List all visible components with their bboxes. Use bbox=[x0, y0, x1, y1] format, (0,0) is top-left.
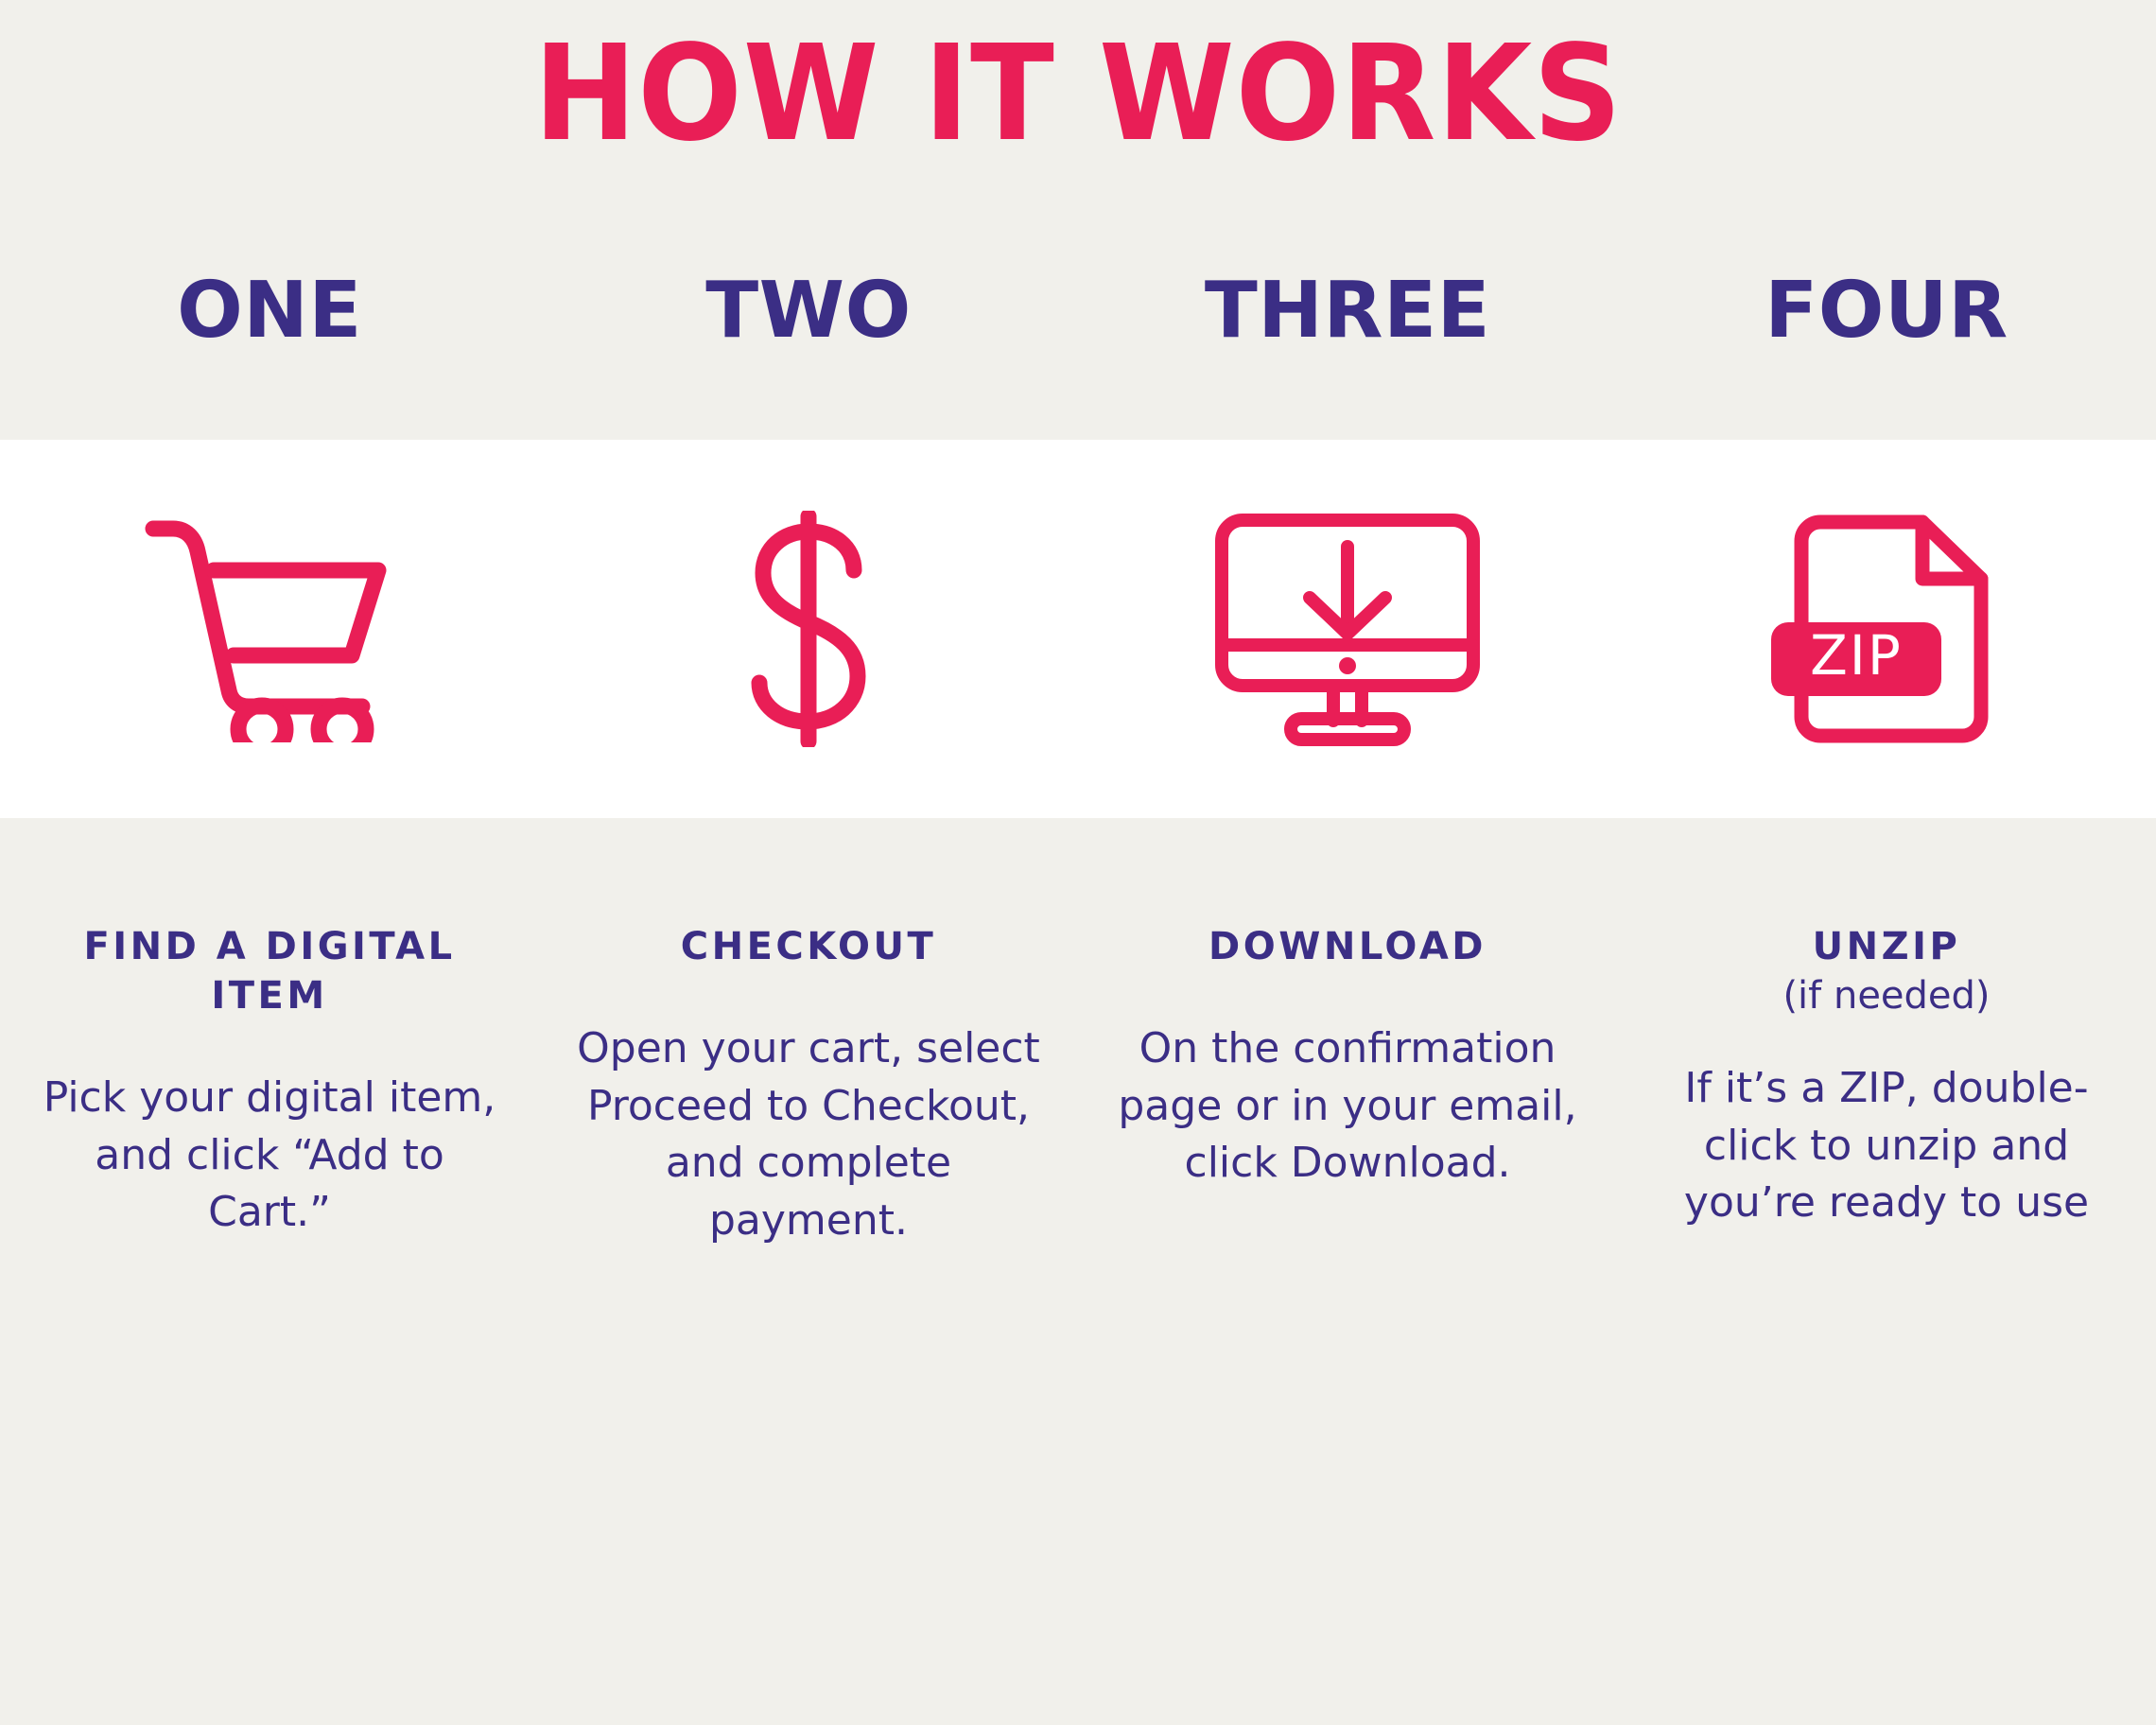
step-numbers-row: ONE TWO THREE FOUR bbox=[0, 272, 2156, 414]
step-number-cell-three: THREE bbox=[1078, 272, 1617, 414]
step-number-one: ONE bbox=[177, 272, 362, 350]
step-heading-four: UNZIP bbox=[1653, 922, 2120, 971]
page-title: HOW IT WORKS bbox=[533, 28, 1623, 161]
step-description-two: CHECKOUT Open your cart, select Proceed … bbox=[539, 922, 1078, 1584]
dollar-sign-icon bbox=[723, 511, 894, 747]
icon-cell-one bbox=[0, 440, 539, 818]
step-description-four: UNZIP (if needed) If it’s a ZIP, double-… bbox=[1617, 922, 2156, 1584]
step-number-cell-four: FOUR bbox=[1617, 272, 2156, 414]
step-heading-two: CHECKOUT bbox=[575, 922, 1042, 971]
zip-file-icon: ZIP bbox=[1764, 511, 2009, 747]
shopping-cart-icon bbox=[142, 515, 397, 742]
title-band: HOW IT WORKS bbox=[0, 0, 2156, 189]
step-number-four: FOUR bbox=[1765, 272, 2008, 350]
step-number-three: THREE bbox=[1205, 272, 1490, 350]
step-body-three: On the confirmation page or in your emai… bbox=[1114, 1020, 1581, 1193]
step-number-two: TWO bbox=[705, 272, 912, 350]
step-heading-three: DOWNLOAD bbox=[1114, 922, 1581, 971]
step-number-cell-two: TWO bbox=[539, 272, 1078, 414]
step-body-one: Pick your digital item, and click “Add t… bbox=[36, 1070, 503, 1242]
step-body-two: Open your cart, select Proceed to Checko… bbox=[575, 1020, 1042, 1250]
step-number-cell-one: ONE bbox=[0, 272, 539, 414]
icon-band: ZIP bbox=[0, 440, 2156, 818]
infographic-page: HOW IT WORKS ONE TWO THREE FOUR bbox=[0, 0, 2156, 1725]
step-subheading-four: (if needed) bbox=[1653, 971, 2120, 1020]
zip-badge-label: ZIP bbox=[1810, 623, 1903, 688]
step-description-one: FIND A DIGITAL ITEM Pick your digital it… bbox=[0, 922, 539, 1584]
icon-cell-four: ZIP bbox=[1617, 440, 2156, 818]
step-description-three: DOWNLOAD On the confirmation page or in … bbox=[1078, 922, 1617, 1584]
icon-cell-two bbox=[539, 440, 1078, 818]
monitor-power-dot bbox=[1339, 657, 1356, 674]
icon-cell-three bbox=[1078, 440, 1617, 818]
step-heading-one: FIND A DIGITAL ITEM bbox=[36, 922, 503, 1020]
monitor-download-icon bbox=[1210, 511, 1485, 747]
step-body-four: If it’s a ZIP, double-click to unzip and… bbox=[1653, 1060, 2120, 1232]
descriptions-row: FIND A DIGITAL ITEM Pick your digital it… bbox=[0, 922, 2156, 1584]
